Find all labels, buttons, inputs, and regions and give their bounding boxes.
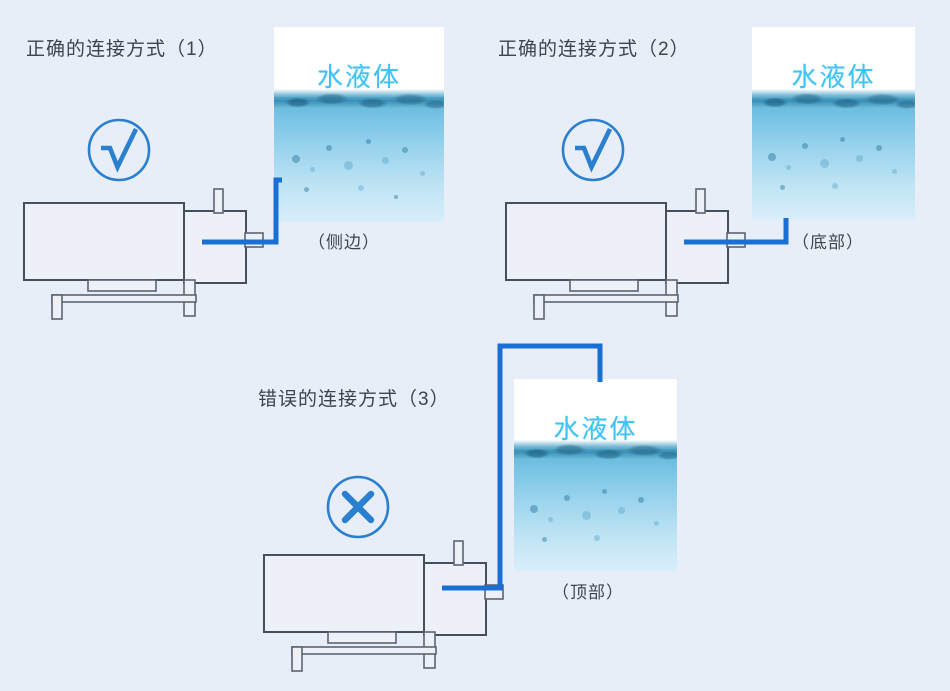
cross-mark-icon-3 <box>325 474 391 540</box>
panel-1-title: 正确的连接方式（1） <box>26 34 218 61</box>
pipe-connection-1 <box>200 160 300 260</box>
panel-3-title: 错误的连接方式（3） <box>258 384 450 411</box>
panel-2-title: 正确的连接方式（2） <box>498 34 690 61</box>
check-mark-icon-2 <box>560 117 626 183</box>
tank-label-1: 水液体 <box>274 57 444 94</box>
tank-caption-1: （侧边） <box>308 228 380 253</box>
pipe-connection-2 <box>682 180 802 270</box>
tank-label-2: 水液体 <box>752 57 915 94</box>
tank-caption-2: （底部） <box>792 228 864 253</box>
diagram-canvas: 正确的连接方式（1） 水液体 （侧边） <box>0 0 950 691</box>
pipe-connection-3 <box>440 340 620 600</box>
check-mark-icon-1 <box>86 117 152 183</box>
